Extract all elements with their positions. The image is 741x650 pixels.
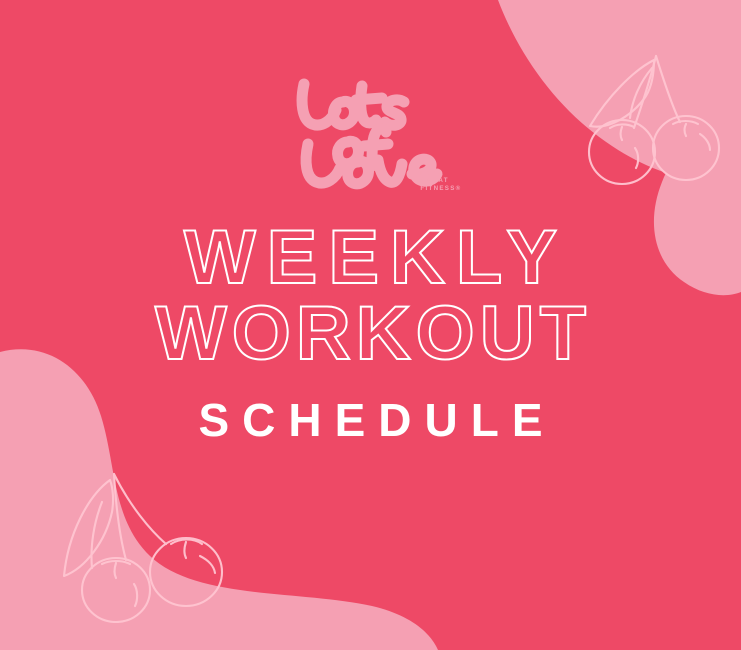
headline-line-schedule: SCHEDULE: [0, 397, 741, 443]
headline-line-weekly: WEEKLY: [0, 222, 741, 295]
brand-logo: LOVE SWEAT FITNESS®: [0, 62, 741, 199]
headline-line-workout: WORKOUT: [0, 298, 741, 371]
tagline-line-1: LOVE: [420, 170, 461, 177]
poster-canvas: LOVE SWEAT FITNESS® WEEKLY WORKOUT SCHED…: [0, 0, 741, 650]
cherry-line-art-bottom-left: [58, 468, 248, 623]
tagline-line-3: FITNESS®: [420, 185, 461, 192]
logo-wordmark: LOVE SWEAT FITNESS®: [286, 62, 456, 194]
brand-tagline: LOVE SWEAT FITNESS®: [420, 170, 461, 192]
headline-block: WEEKLY WORKOUT SCHEDULE: [0, 222, 741, 443]
tagline-line-2: SWEAT: [420, 177, 461, 184]
